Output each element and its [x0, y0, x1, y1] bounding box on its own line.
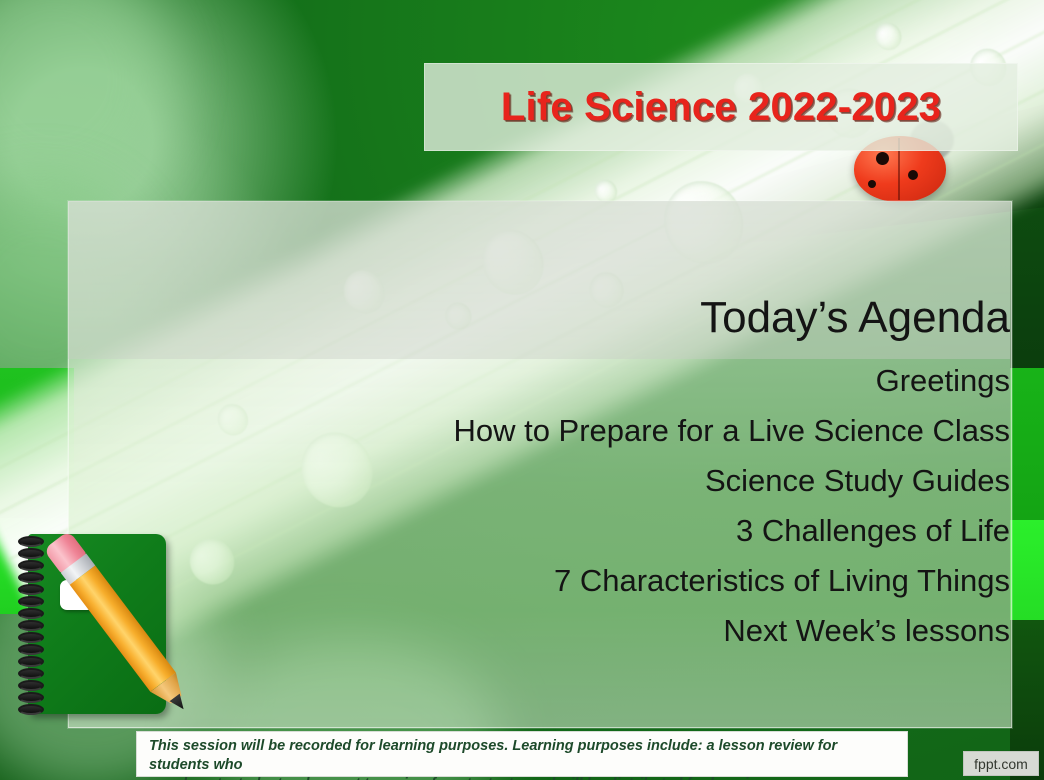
agenda-item-2: How to Prepare for a Live Science Class: [310, 406, 1010, 456]
agenda-item-5: 7 Characteristics of Living Things: [310, 556, 1010, 606]
agenda-item-1: Greetings: [310, 356, 1010, 406]
fppt-watermark: fppt.com: [963, 751, 1039, 776]
slide-title: Life Science 2022-2023: [501, 85, 941, 130]
ladybug-spot: [876, 152, 889, 165]
recording-notice: This session will be recorded for learni…: [136, 731, 908, 777]
right-dark-band: [1010, 190, 1044, 368]
right-accent-band: [1010, 368, 1044, 520]
ladybug-spot: [908, 170, 918, 180]
agenda-item-4: 3 Challenges of Life: [310, 506, 1010, 556]
notebook-illustration: [18, 534, 166, 714]
agenda-item-6: Next Week’s lessons: [310, 606, 1010, 656]
agenda-block: Today’s Agenda Greetings How to Prepare …: [310, 292, 1010, 656]
ladybug-spot: [868, 180, 876, 188]
presentation-slide: Life Science 2022-2023 Today’s Agenda Gr…: [0, 0, 1044, 780]
notebook-cover: [28, 534, 166, 714]
slide-title-band: Life Science 2022-2023: [424, 63, 1018, 151]
agenda-heading: Today’s Agenda: [310, 292, 1010, 344]
notebook-spiral: [18, 536, 42, 712]
recording-notice-line2: are absent, students who want to review …: [149, 775, 895, 780]
agenda-item-3: Science Study Guides: [310, 456, 1010, 506]
left-accent-band: [0, 368, 74, 518]
recording-notice-line1: This session will be recorded for learni…: [149, 737, 895, 775]
right-accent-band-bright: [1010, 520, 1044, 620]
